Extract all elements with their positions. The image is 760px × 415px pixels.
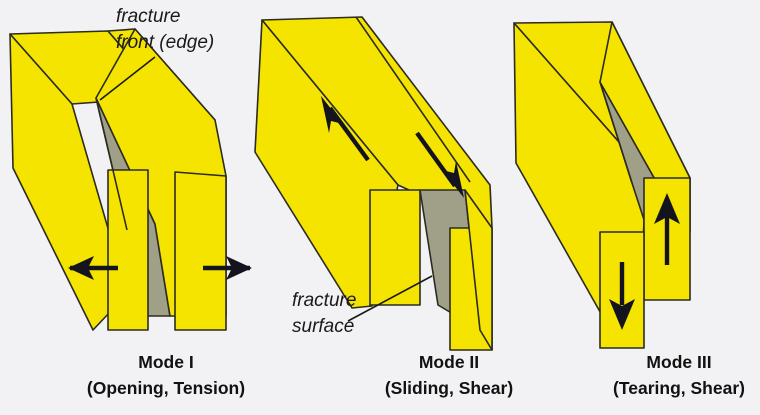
fracture-surface-label-line2: surface — [292, 316, 354, 337]
mode-2-title: Mode II — [419, 352, 479, 372]
fracture-surface-label-line1: fracture — [292, 290, 356, 311]
fracture-modes-figure: fracture front (edge) fracture surface M… — [0, 0, 760, 415]
mode2-left-front-block — [370, 190, 420, 305]
mode1-right-front-block — [175, 172, 226, 330]
fracture-front-label-line1: fracture — [116, 6, 180, 27]
mode-2-subtitle: (Sliding, Shear) — [385, 378, 513, 398]
mode1-left-front-block — [108, 170, 148, 330]
mode-1-title: Mode I — [138, 352, 193, 372]
fracture-front-label-line2: front (edge) — [116, 32, 214, 53]
mode-1-subtitle: (Opening, Tension) — [87, 378, 245, 398]
fracture-modes-diagram: fracture front (edge) fracture surface M… — [0, 0, 760, 415]
mode-3-subtitle: (Tearing, Shear) — [613, 378, 745, 398]
mode-3-title: Mode III — [646, 352, 711, 372]
